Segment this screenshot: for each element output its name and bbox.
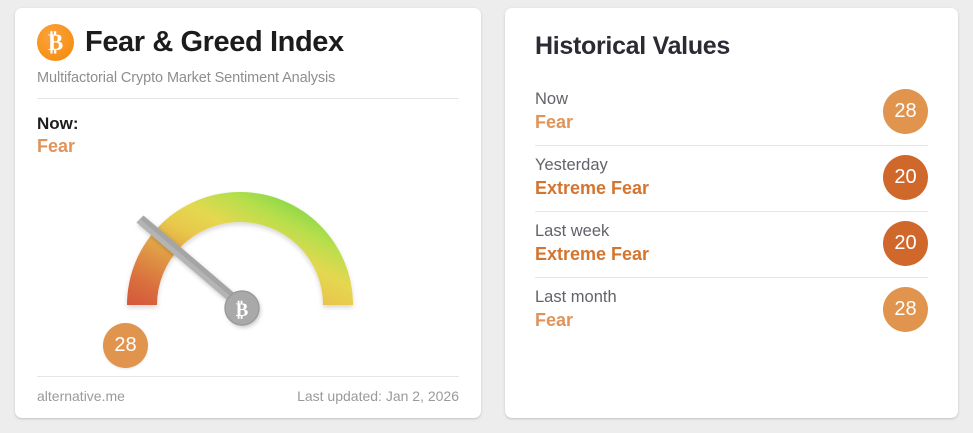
- gauge-arc: [127, 192, 353, 305]
- row-value-text: 20: [894, 232, 916, 255]
- row-texts: Last month Fear: [535, 288, 617, 331]
- last-updated-text: Last updated: Jan 2, 2026: [297, 388, 459, 404]
- row-texts: Now Fear: [535, 90, 573, 133]
- row-period: Yesterday: [535, 156, 649, 176]
- fear-greed-gauge-card: ₿ Fear & Greed Index Multifactorial Cryp…: [15, 8, 481, 418]
- list-item[interactable]: Last week Extreme Fear 20: [535, 212, 928, 278]
- gauge-value-badge: 28: [103, 323, 148, 368]
- row-value-badge: 20: [883, 155, 928, 200]
- footer-divider: [37, 376, 459, 377]
- page-subtitle: Multifactorial Crypto Market Sentiment A…: [37, 70, 459, 86]
- footer-row: alternative.me Last updated: Jan 2, 2026: [37, 388, 459, 404]
- svg-text:₿: ₿: [236, 300, 249, 321]
- gauge-chart: ₿: [15, 160, 481, 375]
- svg-text:₿: ₿: [48, 30, 63, 55]
- now-block: Now: Fear: [15, 99, 481, 158]
- source-link[interactable]: alternative.me: [37, 388, 125, 404]
- list-item[interactable]: Now Fear 28: [535, 80, 928, 146]
- gauge-container: ₿ 28: [15, 160, 481, 375]
- row-value-text: 20: [894, 166, 916, 189]
- historical-values-card: Historical Values Now Fear 28 Yesterday …: [505, 8, 958, 418]
- row-period: Now: [535, 90, 573, 110]
- row-period: Last week: [535, 222, 649, 242]
- page-title: Fear & Greed Index: [85, 28, 344, 57]
- title-row: ₿ Fear & Greed Index: [37, 24, 459, 61]
- list-item[interactable]: Last month Fear 28: [535, 278, 928, 343]
- bitcoin-icon: ₿: [37, 24, 74, 61]
- row-value-text: 28: [894, 298, 916, 321]
- list-item[interactable]: Yesterday Extreme Fear 20: [535, 146, 928, 212]
- historical-list: Now Fear 28 Yesterday Extreme Fear 20: [535, 80, 928, 343]
- gauge-value-text: 28: [114, 334, 136, 357]
- row-value-text: 28: [894, 100, 916, 123]
- row-classification: Extreme Fear: [535, 178, 649, 200]
- row-classification: Fear: [535, 112, 573, 134]
- row-value-badge: 28: [883, 89, 928, 134]
- row-classification: Extreme Fear: [535, 244, 649, 266]
- now-label: Now:: [37, 113, 459, 134]
- gauge-card-footer: alternative.me Last updated: Jan 2, 2026: [37, 376, 459, 404]
- row-value-badge: 28: [883, 287, 928, 332]
- page-root: ₿ Fear & Greed Index Multifactorial Cryp…: [0, 0, 973, 433]
- row-classification: Fear: [535, 310, 617, 332]
- row-value-badge: 20: [883, 221, 928, 266]
- now-classification: Fear: [37, 135, 459, 158]
- row-period: Last month: [535, 288, 617, 308]
- gauge-card-header: ₿ Fear & Greed Index Multifactorial Cryp…: [15, 8, 481, 99]
- historical-title: Historical Values: [535, 34, 928, 59]
- row-texts: Yesterday Extreme Fear: [535, 156, 649, 199]
- gauge-hub: ₿: [225, 291, 259, 325]
- historical-inner: Historical Values Now Fear 28 Yesterday …: [505, 8, 958, 343]
- row-texts: Last week Extreme Fear: [535, 222, 649, 265]
